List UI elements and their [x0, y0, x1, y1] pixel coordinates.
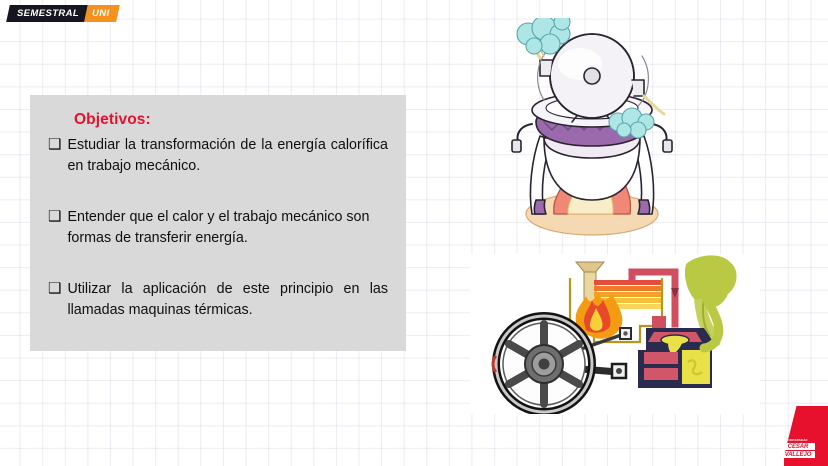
objectives-title: Objetivos:: [74, 111, 388, 129]
objective-text-1: Estudiar la transformación de la energía…: [67, 135, 388, 177]
steam-engine-illustration: [472, 252, 762, 414]
logo-uni-text: UNI: [92, 9, 110, 19]
objectives-card: Objetivos: ❑ Estudiar la transformación …: [30, 95, 406, 351]
flywheel: [493, 316, 592, 412]
cesar-vallejo-badge: UNIVERSIDAD CESAR VALLEJO: [781, 440, 815, 459]
semestral-uni-logo: SEMESTRAL UNI: [6, 5, 119, 22]
square-bullet-icon: ❑: [48, 207, 61, 227]
square-bullet-icon: ❑: [48, 135, 61, 155]
badge-name-line-2: VALLEJO: [781, 451, 815, 458]
badge-name-line-1: CESAR: [781, 443, 815, 450]
engine-block: [638, 328, 712, 388]
objective-text-2: Entender que el calor y el trabajo mecán…: [67, 207, 388, 249]
aeolipile-illustration: [492, 18, 692, 260]
logo-left-block: SEMESTRAL: [6, 5, 88, 22]
logo-right-block: UNI: [84, 5, 119, 22]
objective-item-1: ❑ Estudiar la transformación de la energ…: [48, 135, 388, 177]
square-bullet-icon: ❑: [48, 279, 61, 299]
objective-text-3: Utilizar la aplicación de este principio…: [67, 279, 388, 321]
slide-canvas: SEMESTRAL UNI Objetivos: ❑ Estudiar la t…: [0, 0, 828, 466]
logo-semestral-text: SEMESTRAL: [17, 9, 79, 19]
objectives-list: ❑ Estudiar la transformación de la energ…: [48, 135, 388, 321]
badge-university-word: UNIVERSIDAD: [781, 440, 815, 443]
objective-item-3: ❑ Utilizar la aplicación de este princip…: [48, 279, 388, 321]
objective-item-2: ❑ Entender que el calor y el trabajo mec…: [48, 207, 388, 249]
